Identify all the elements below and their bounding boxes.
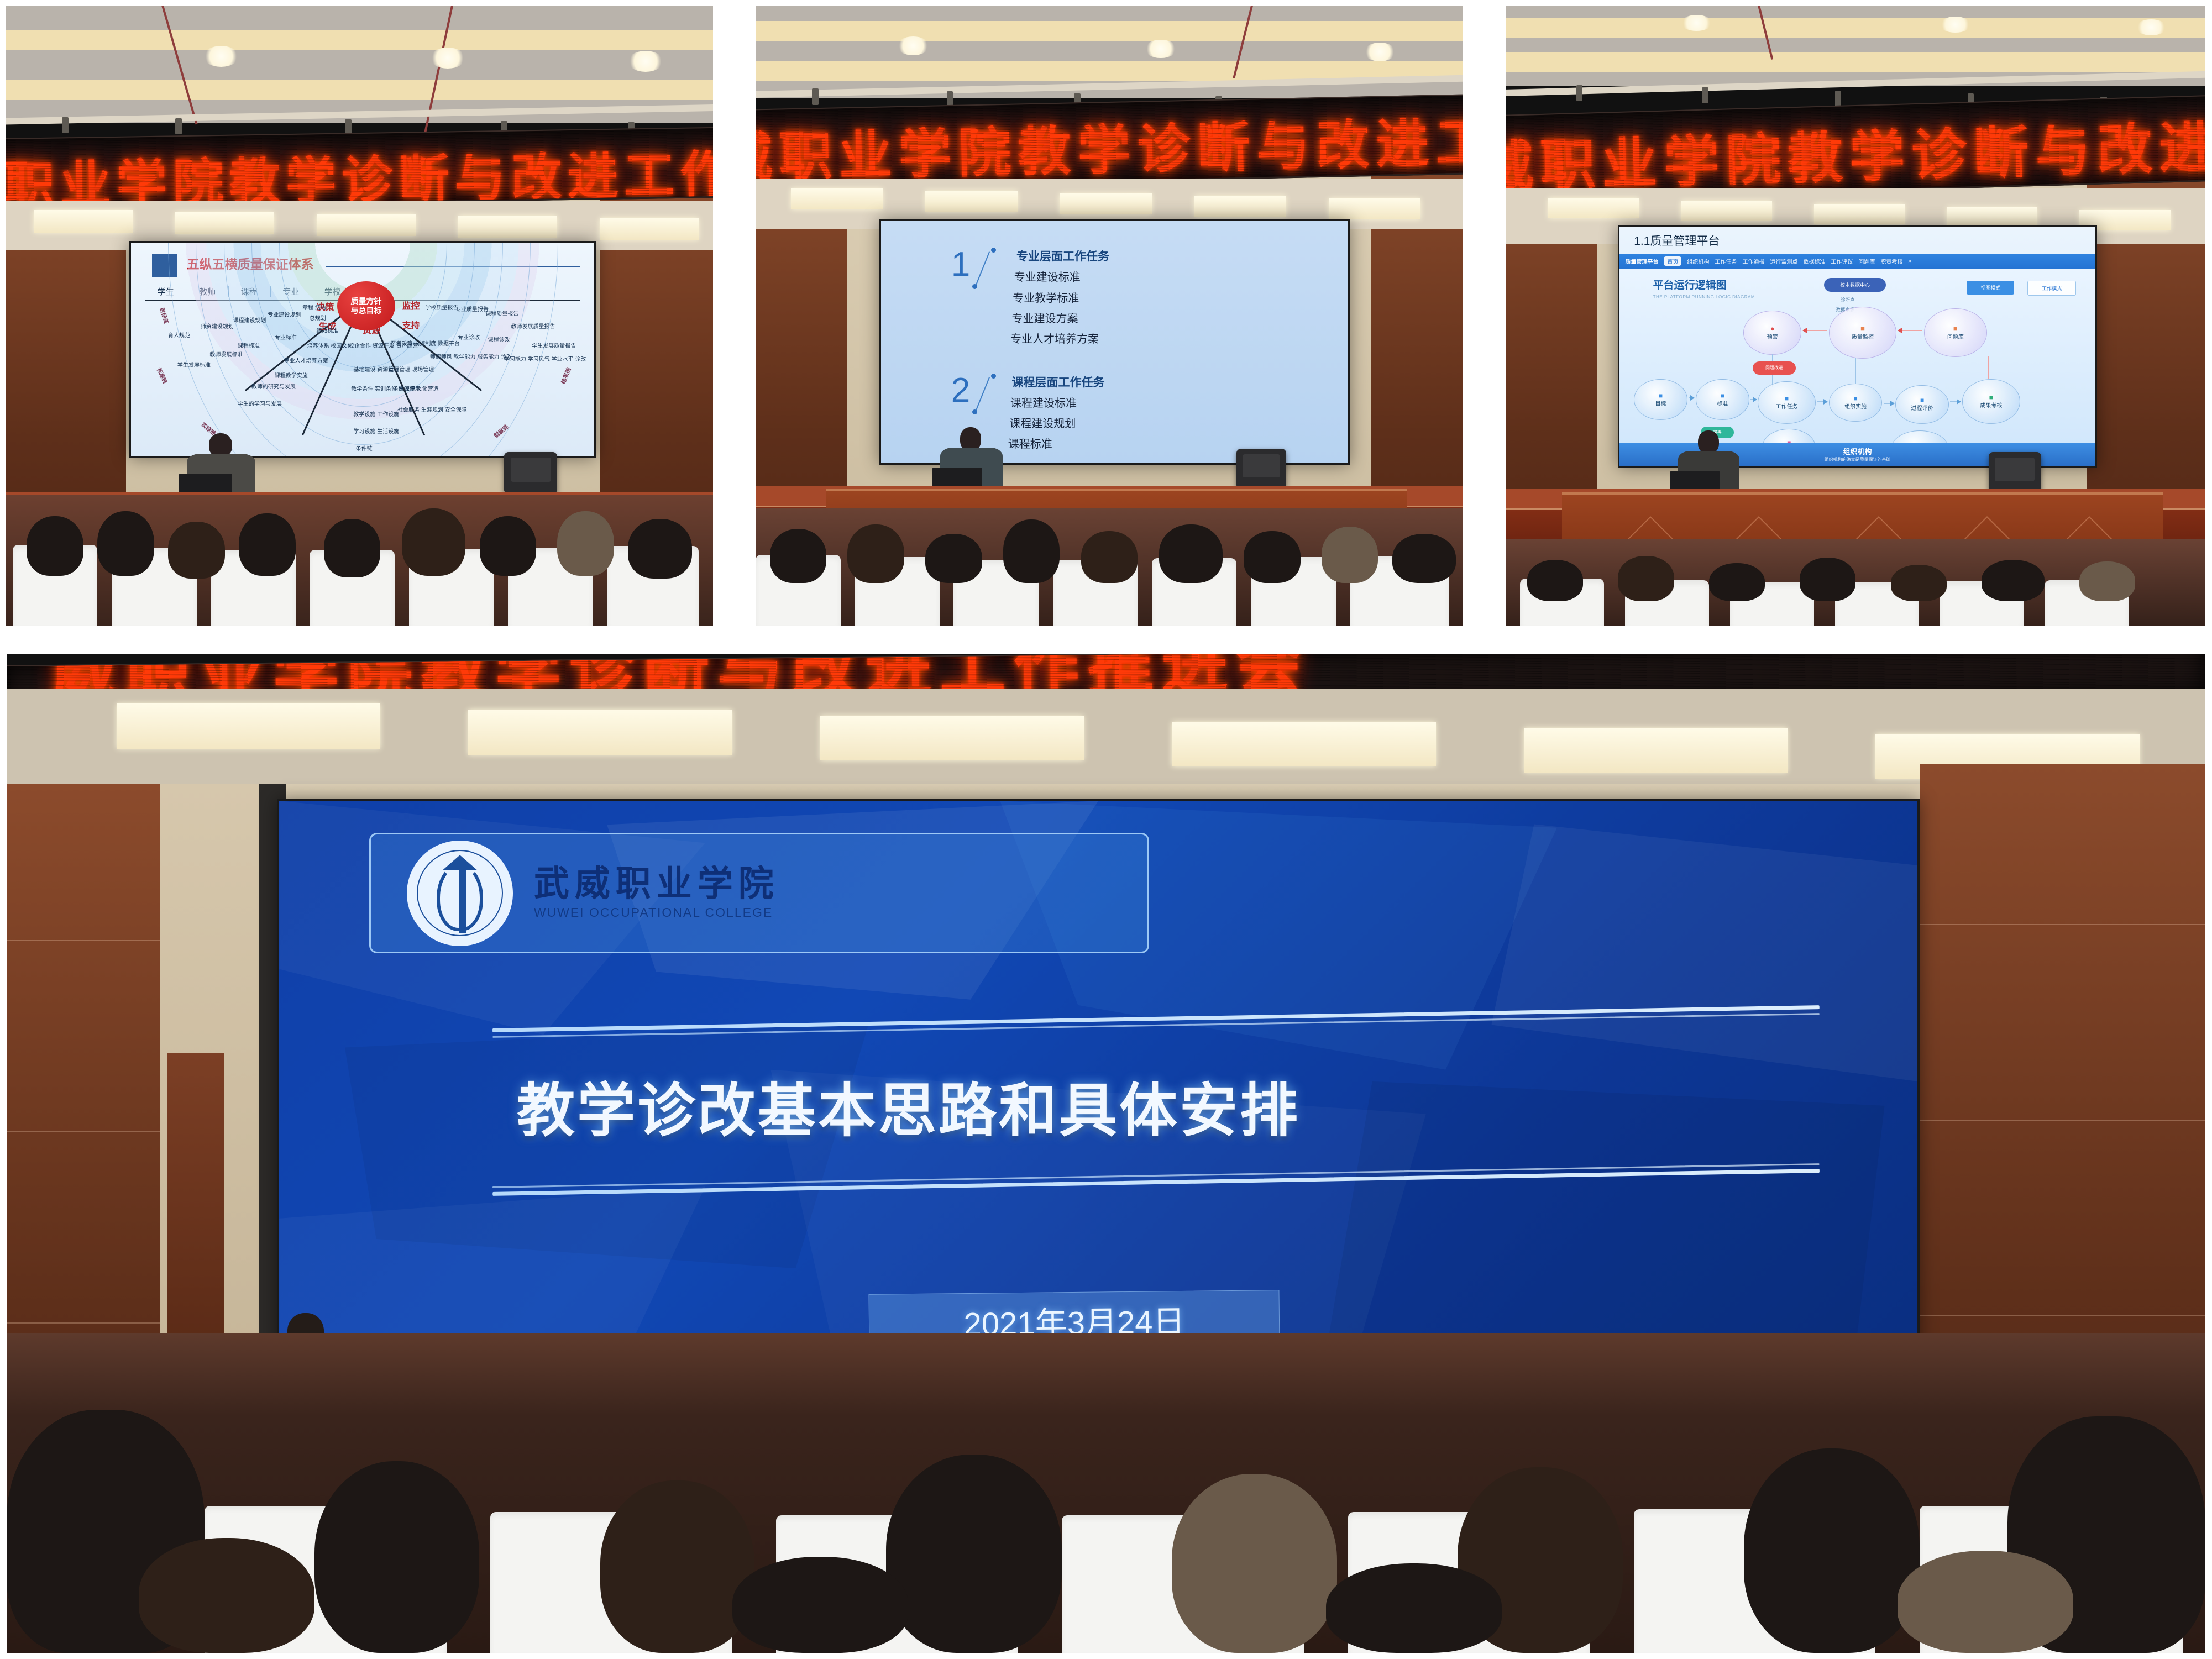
- layers-icon: ■: [1920, 397, 1924, 403]
- slide2-heading-1: 专业层面工作任务: [1016, 248, 1109, 264]
- briefcase-icon: ■: [1659, 392, 1663, 399]
- node-standard-label: 标准: [1717, 399, 1728, 407]
- node-process-evaluation[interactable]: ■ 过程评价: [1895, 385, 1949, 424]
- mode-button-view[interactable]: 视图模式: [1967, 281, 2014, 295]
- photo-panel-3[interactable]: 威职业学院教学诊断与改进工作推进会 1.1质量管理平台 质量管理平台 首页 组织…: [1506, 6, 2205, 626]
- college-crest-icon: [407, 841, 512, 946]
- audience-head: [1172, 1474, 1336, 1653]
- nav-item-7[interactable]: 问题库: [1858, 257, 1875, 265]
- slide2-item-1-line-0: 专业建设标准: [1014, 268, 1081, 284]
- platform-brand: 质量管理平台: [1625, 257, 1658, 265]
- photo-panel-1[interactable]: 威职业学院教学诊断与改进工作推进会 五纵五横质量保证体系 学生 教师 课: [6, 6, 713, 626]
- audience-head: [732, 1557, 908, 1653]
- slide1-ring-major-1: 专业标准: [275, 335, 297, 342]
- footer-title: 组织机构: [1843, 446, 1872, 456]
- slide1-ring-school-1: 总规划: [310, 316, 326, 322]
- audience-head: [1744, 1448, 1920, 1653]
- node-standard[interactable]: ■ 标准: [1696, 379, 1749, 419]
- footer-sub: 组织机构的确立是质量保证的基础: [1824, 456, 1890, 463]
- collage-canvas: 威职业学院教学诊断与改进工作推进会 五纵五横质量保证体系 学生 教师 课: [0, 0, 2212, 1659]
- slide1-wedge-0: 目标链: [158, 306, 171, 324]
- slide1-ring-support-0: 严考政策 内控制度 数据平台: [390, 341, 460, 348]
- slide1-ring-student-0: 育人规范: [168, 333, 190, 339]
- photo-panel-2[interactable]: 威职业学院教学诊断与改进工作推进会 1 专业层面工作任务 专业建设标准 专业教学: [756, 6, 1463, 626]
- slide1-ring-student-1: 学生发展标准: [177, 363, 211, 369]
- briefcase-icon: ■: [1721, 392, 1724, 399]
- slide1-wedge-4: 结果链: [559, 366, 573, 384]
- node-quality-monitor[interactable]: ■ 质量监控: [1829, 307, 1896, 359]
- ceiling-downlight: [203, 46, 239, 67]
- slide1-core: 质量方针 与总目标: [337, 281, 395, 330]
- slide2-item-2-line-1: 课程建设规划: [1009, 414, 1076, 431]
- node-organize-implement-label: 组织实施: [1844, 402, 1867, 410]
- projection-screen-1: 五纵五横质量保证体系 学生 教师 课程 专业 学校: [129, 241, 596, 458]
- slide1-ring-teacher-0: 师资建设规划: [201, 324, 234, 330]
- nav-item-4[interactable]: 运行监测点: [1770, 257, 1797, 265]
- ceiling-downlight: [1681, 15, 1712, 31]
- slide1-ring-course-2: 课程教学实施: [275, 373, 308, 380]
- slide2-number-1: 1: [951, 248, 970, 282]
- slide1-sector-3: 支持: [402, 321, 420, 332]
- presenter-laptop: [932, 468, 982, 489]
- book-icon: ■: [1989, 394, 1993, 401]
- slide1-ring-teacher-1: 教师发展标准: [210, 352, 243, 359]
- shield-icon: ●: [1770, 325, 1775, 332]
- node-work-task-label: 工作任务: [1775, 402, 1797, 410]
- door-left[interactable]: [167, 1053, 224, 1353]
- platform-navbar[interactable]: 质量管理平台 首页 组织机构 工作任务 工作通报 运行监测点 数据标准 工作评议…: [1619, 254, 2095, 269]
- audience-area: [756, 508, 1463, 626]
- slide1-ring-resource-4: 学习设施 生活设施: [353, 429, 399, 435]
- slide1-ring-resource-3: 教学设施 工作设施: [353, 412, 399, 418]
- slide1-ring-support-1: 运行管理 现场管理: [388, 367, 434, 374]
- node-problem-library[interactable]: ■ 问题库: [1924, 308, 1987, 357]
- slide-main-title: 武威职业学院 WUWEI OCCUPATIONAL COLLEGE 教学诊改基本…: [279, 801, 1917, 1385]
- slide1-ring-school-2: 绩效标准: [316, 328, 338, 335]
- slide2-item-1-line-1: 专业教学标准: [1013, 289, 1079, 305]
- slide1-core-line-1: 与总目标: [350, 306, 381, 315]
- slide2-number-2: 2: [951, 374, 970, 408]
- slide-quality-assurance-system: 五纵五横质量保证体系 学生 教师 课程 专业 学校: [131, 243, 594, 456]
- node-process-evaluation-label: 过程评价: [1911, 403, 1933, 412]
- nav-item-8[interactable]: 职责考核: [1880, 257, 1902, 265]
- college-logo-plate: 武威职业学院 WUWEI OCCUPATIONAL COLLEGE: [369, 833, 1149, 953]
- ceiling-downlight: [1145, 40, 1177, 59]
- mode-button-work[interactable]: 工作模式: [2027, 281, 2076, 296]
- slide1-ring-monitor-2: 课程质量报告: [485, 311, 518, 318]
- diagram-title: 平台运行逻辑图: [1653, 277, 1727, 292]
- envelope-icon: ■: [1860, 325, 1865, 332]
- slide1-ring-support-2: 条件保障 文化营造: [393, 386, 439, 393]
- slide1-wedge-1: 标准链: [155, 366, 170, 385]
- slide1-ring-monitor-6: 课程诊改: [488, 337, 510, 344]
- slide1-ring-course-1: 课程标准: [238, 343, 260, 350]
- nav-item-2[interactable]: 工作任务: [1715, 257, 1737, 265]
- slide2-item-1-line-3: 专业人才培养方案: [1010, 330, 1099, 346]
- projection-screen-main: 武威职业学院 WUWEI OCCUPATIONAL COLLEGE 教学诊改基本…: [277, 799, 1920, 1388]
- audience-area: [7, 1333, 2205, 1653]
- data-center-sub-0: 诊断点: [1841, 297, 1855, 303]
- layers-icon: ■: [1854, 395, 1858, 402]
- node-warning[interactable]: ● 预警: [1743, 311, 1801, 355]
- diagram-subtitle: THE PLATFORM RUNNING LOGIC DIAGRAM: [1653, 295, 1755, 300]
- node-result-assessment[interactable]: ■ 成果考核: [1962, 379, 2020, 423]
- audience-area: [1506, 539, 2205, 626]
- node-result-assessment-label: 成果考核: [1980, 401, 2002, 409]
- node-work-task[interactable]: ■ 工作任务: [1758, 381, 1816, 424]
- nav-item-0[interactable]: 首页: [1664, 256, 1681, 266]
- college-name-en: WUWEI OCCUPATIONAL COLLEGE: [534, 905, 779, 920]
- audience-head: [1898, 1551, 2073, 1653]
- slide1-ring-monitor-8: 学习能力 学习风气 学业水平 诊改: [504, 356, 586, 363]
- slide2-heading-2: 课程层面工作任务: [1012, 374, 1105, 390]
- slide1-ring-student-2: 学生的学习与发展: [238, 401, 282, 408]
- tag-problem-improve: 问题改进: [1753, 361, 1795, 374]
- nav-item-6[interactable]: 工作评议: [1831, 257, 1853, 265]
- node-goal[interactable]: ■ 目标: [1634, 379, 1687, 419]
- slide1-ring-monitor-4: 学生发展质量报告: [532, 343, 576, 350]
- ceiling-downlight: [2136, 19, 2167, 35]
- slide2-item-1-line-2: 专业建设方案: [1012, 309, 1078, 326]
- slide1-ring-monitor-5: 专业诊改: [458, 335, 480, 342]
- college-name-cn: 武威职业学院: [534, 867, 779, 902]
- audience-head: [314, 1461, 479, 1653]
- presenter-laptop: [1670, 471, 1720, 492]
- slide2-item-2-line-0: 课程建设标准: [1010, 394, 1077, 410]
- slide1-ring-course-0: 课程建设规划: [233, 318, 266, 324]
- slide1-ring-teacher-2: 教师的研究与发展: [251, 384, 296, 391]
- stage-monitor: [504, 452, 557, 492]
- node-quality-monitor-label: 质量监控: [1852, 332, 1874, 340]
- slide1-ring-monitor-0: 学校质量报告: [425, 305, 458, 312]
- node-goal-label: 目标: [1655, 399, 1666, 407]
- nav-item-3[interactable]: 工作通报: [1742, 257, 1764, 265]
- led-banner: 威职业学院教学诊断与改进工作推进会: [6, 127, 713, 209]
- audience-head: [1326, 1563, 1502, 1653]
- stage-monitor: [1236, 449, 1286, 487]
- slide1-ring-monitor-3: 教师发展质量报告: [511, 324, 555, 330]
- slide1-ring-school-3: 培养体系 校园文化: [307, 343, 353, 350]
- node-organize-implement[interactable]: ■ 组织实施: [1829, 384, 1883, 422]
- slide1-ring-major-0: 专业建设规划: [268, 312, 301, 319]
- slide1-ring-monitor-7: 师德师风 教学能力 服务能力 诊改: [430, 354, 512, 361]
- ceiling-downlight: [1364, 43, 1396, 61]
- slide2-item-2-line-2: 课程标准: [1008, 435, 1052, 451]
- briefcase-icon: ■: [1785, 395, 1789, 402]
- audience-head: [886, 1455, 1062, 1653]
- node-problem-library-label: 问题库: [1947, 332, 1964, 340]
- main-slide-title: 教学诊改基本思路和具体安排: [517, 1064, 1300, 1148]
- photo-panel-4[interactable]: 威职业学院教学诊断与改进工作推进会: [7, 654, 2205, 1653]
- audience-head: [139, 1538, 314, 1653]
- slide1-sector-4: 监控: [402, 302, 420, 312]
- nav-item-more[interactable]: »: [1908, 258, 1911, 264]
- ceiling-downlight: [897, 36, 929, 55]
- led-banner: 威职业学院教学诊断与改进工作推进会: [756, 94, 1463, 190]
- audience-area: [6, 495, 713, 626]
- slide1-core-line-0: 质量方针: [350, 297, 381, 306]
- slide1-ring-monitor-1: 专业质量报告: [455, 307, 489, 313]
- slide1-ring-school-0: 章程 结构: [302, 305, 326, 312]
- audience-head: [600, 1481, 754, 1653]
- nav-item-5[interactable]: 数据标准: [1803, 257, 1825, 265]
- slide1-ring-major-2: 专业人才培养方案: [284, 358, 328, 365]
- data-center-pill: 校本数据中心: [1824, 278, 1886, 292]
- envelope-icon: ■: [1953, 325, 1958, 332]
- slide1-ring-support-3: 社会服务 生涯规划 安全保障: [397, 407, 467, 414]
- node-warning-label: 预警: [1767, 332, 1778, 340]
- slide1-bottom-label: 条件链: [356, 446, 373, 453]
- nav-item-1[interactable]: 组织机构: [1687, 257, 1709, 265]
- ceiling-downlight: [628, 51, 663, 72]
- slide3-title: 1.1质量管理平台: [1634, 232, 1720, 249]
- stage-monitor: [1989, 452, 2041, 492]
